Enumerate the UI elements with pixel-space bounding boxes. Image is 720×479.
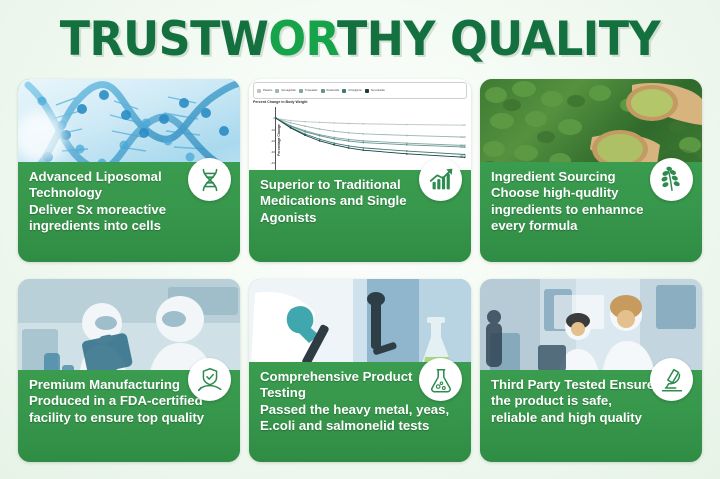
page-title-part-1: TRUSTW <box>60 12 269 67</box>
legend-item: Tirzepatide <box>299 89 318 93</box>
chart-point <box>362 140 364 142</box>
card-line-3: ingredients to enhannce <box>491 202 694 218</box>
chart-point <box>348 139 350 141</box>
legend-label: Tirzepatide <box>305 89 318 92</box>
card-line-3: Deliver Sx moreactive <box>29 202 232 218</box>
feature-card-premium-manufacturing[interactable]: Premium Manufacturing Produced in a FDA-… <box>18 279 240 462</box>
chart-point <box>348 147 350 149</box>
feature-card-grid: Advanced Liposomal Technology Deliver Sx… <box>18 79 702 463</box>
chart-point <box>304 125 306 127</box>
chart-line <box>276 118 465 147</box>
card-line-3: Agonists <box>260 210 463 226</box>
chart-point <box>333 122 335 124</box>
legend-item: Placebo <box>257 89 272 93</box>
legend-label: Survodutide <box>371 89 385 92</box>
page-title-part-3: THY QUALITY <box>337 12 660 67</box>
chart-legend: Placebo Semaglutide Tirzepatide Retatrut… <box>253 82 467 99</box>
microscope-icon <box>650 358 693 401</box>
chart-point <box>406 153 408 155</box>
chart-point <box>304 121 306 123</box>
card-line-4: E.coli and salmonelid tests <box>260 418 463 434</box>
page-title-part-2: OR <box>268 12 337 67</box>
chart-end-label: -34.6 <box>459 155 466 159</box>
chart-point <box>319 128 321 130</box>
card-line-3: facility to ensure top quality <box>29 410 232 426</box>
chart-y-tick: -20 <box>266 139 275 143</box>
legend-label: Placebo <box>263 89 272 92</box>
chart-point <box>362 142 364 144</box>
legend-item: Retatrutide <box>321 89 340 93</box>
chart-y-tick: 0 <box>266 116 275 120</box>
leaf-branch-icon <box>650 158 693 201</box>
legend-label: Semaglutide <box>281 89 295 92</box>
chart-y-tick: -10 <box>266 128 275 132</box>
chart-point <box>362 133 364 135</box>
chart-point <box>348 132 350 134</box>
feature-card-advanced-liposomal-technology[interactable]: Advanced Liposomal Technology Deliver Sx… <box>18 79 240 262</box>
chart-point <box>333 142 335 144</box>
feature-card-ingredient-sourcing[interactable]: Ingredient Sourcing Choose high-qudlity … <box>480 79 702 262</box>
chart-point <box>290 120 292 122</box>
chart-point <box>406 142 408 144</box>
chart-point <box>333 144 335 146</box>
chart-y-tick: -30 <box>266 150 275 154</box>
bar-chart-growth-icon <box>419 158 462 201</box>
legend-label: Orforglipron <box>348 89 362 92</box>
chart-point <box>406 144 408 146</box>
chart-point <box>406 135 408 137</box>
chart-point <box>319 140 321 142</box>
chart-point <box>362 149 364 151</box>
feature-card-comprehensive-product-testing[interactable]: Comprehensive Product Testing Passed the… <box>249 279 471 462</box>
chart-point <box>362 123 364 125</box>
chart-point <box>304 131 306 133</box>
chart-y-tick: -40 <box>266 161 275 165</box>
card-line-3: reliable and high quality <box>491 410 694 426</box>
flask-icon <box>419 358 462 401</box>
legend-item: Orforglipron <box>342 89 362 93</box>
chart-point <box>319 121 321 123</box>
chart-point <box>406 124 408 126</box>
feature-card-third-party-tested[interactable]: Third Party Tested Ensure the product is… <box>480 279 702 462</box>
card-line-3: Passed the heavy metal, yeas, <box>260 402 463 418</box>
chart-point <box>333 138 335 140</box>
legend-label: Retatrutide <box>327 89 340 92</box>
chart-point <box>304 134 306 136</box>
chart-point <box>406 150 408 152</box>
chart-end-label: -25.5 <box>459 145 466 149</box>
chart-point <box>290 122 292 124</box>
chart-point <box>319 135 321 137</box>
chart-point <box>319 138 321 140</box>
chart-end-label: -6.1 <box>461 123 466 127</box>
page-title: TRUSTWORTHY QUALITY <box>0 10 720 68</box>
hand-shield-check-icon <box>188 358 231 401</box>
chart-title: Percent Change in Body Weight <box>253 100 307 104</box>
card-line-4: ingredients into cells <box>29 218 232 234</box>
chart-point <box>348 145 350 147</box>
dna-icon <box>188 158 231 201</box>
chart-point <box>348 123 350 125</box>
chart-point <box>362 147 364 149</box>
chart-point <box>348 140 350 142</box>
legend-item: Semaglutide <box>275 89 295 93</box>
chart-end-label: -16.7 <box>459 135 466 139</box>
feature-card-superior-to-traditional-medications[interactable]: Placebo Semaglutide Tirzepatide Retatrut… <box>249 79 471 262</box>
legend-item: Survodutide <box>365 89 385 93</box>
card-line-4: every formula <box>491 218 694 234</box>
chart-point <box>290 127 292 129</box>
promo-graphic: TRUSTWORTHY QUALITY <box>0 0 720 479</box>
chart-point <box>333 130 335 132</box>
